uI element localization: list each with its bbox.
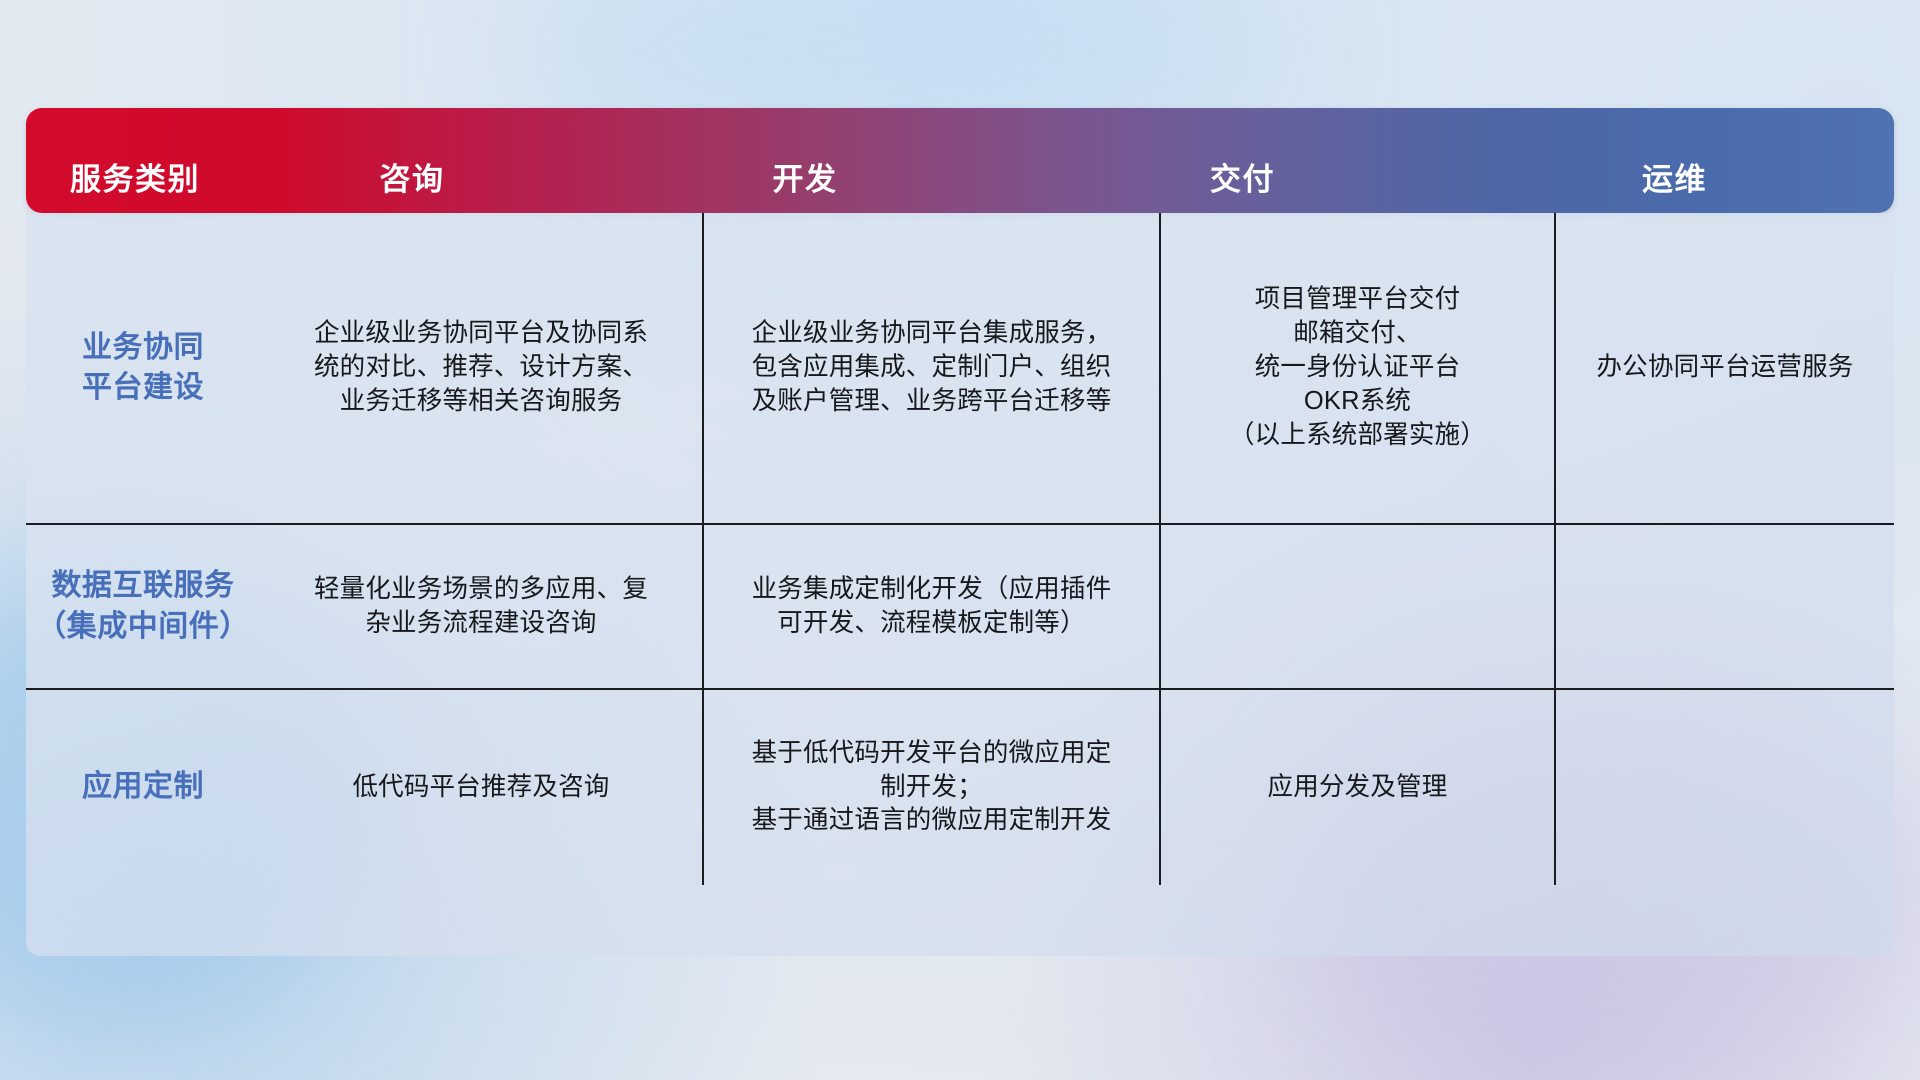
service-matrix-table: 服务类别 咨询 开发 交付 运维 业务协同 平台建设 企业级业务协同平台及协同系… [26,108,1894,956]
cell-consulting-row-1: 企业级业务协同平台及协同系 统的对比、推荐、设计方案、 业务迁移等相关咨询服务 [260,213,702,523]
row-category-label: 数据互联服务 （集成中间件） [36,566,250,646]
column-header-service-category: 服务类别 [26,154,244,213]
cell-delivery-row-3: 应用分发及管理 [1161,690,1554,885]
table-row: 业务协同 平台建设 [26,213,260,523]
table-body: 业务协同 平台建设 企业级业务协同平台及协同系 统的对比、推荐、设计方案、 业务… [26,213,1894,956]
column-header-development: 开发 [580,154,1030,213]
column-header-consulting: 咨询 [244,154,580,213]
column-header-operations: 运维 [1455,154,1894,213]
cell-consulting-row-2: 轻量化业务场景的多应用、复 杂业务流程建设咨询 [260,525,702,688]
cell-operations-row-1: 办公协同平台运营服务 [1556,213,1894,523]
row-category-label: 业务协同 平台建设 [82,328,204,408]
cell-delivery-row-2 [1161,525,1554,688]
cell-development-row-1: 企业级业务协同平台集成服务， 包含应用集成、定制门户、组织 及账户管理、业务跨平… [704,213,1159,523]
cell-operations-row-3 [1556,690,1894,885]
cell-delivery-row-1: 项目管理平台交付 邮箱交付、 统一身份认证平台 OKR系统 （以上系统部署实施） [1161,213,1554,523]
cell-development-row-3: 基于低代码开发平台的微应用定 制开发； 基于通过语言的微应用定制开发 [704,690,1159,885]
row-category-label: 应用定制 [82,767,204,807]
cell-development-row-2: 业务集成定制化开发（应用插件 可开发、流程模板定制等） [704,525,1159,688]
cell-operations-row-2 [1556,525,1894,688]
table-row: 数据互联服务 （集成中间件） [26,525,260,688]
table-header-row: 服务类别 咨询 开发 交付 运维 [26,108,1894,213]
column-header-delivery: 交付 [1030,154,1455,213]
slide-canvas: 服务类别 咨询 开发 交付 运维 业务协同 平台建设 企业级业务协同平台及协同系… [0,0,1920,1080]
table-row: 应用定制 [26,690,260,885]
cell-consulting-row-3: 低代码平台推荐及咨询 [260,690,702,885]
